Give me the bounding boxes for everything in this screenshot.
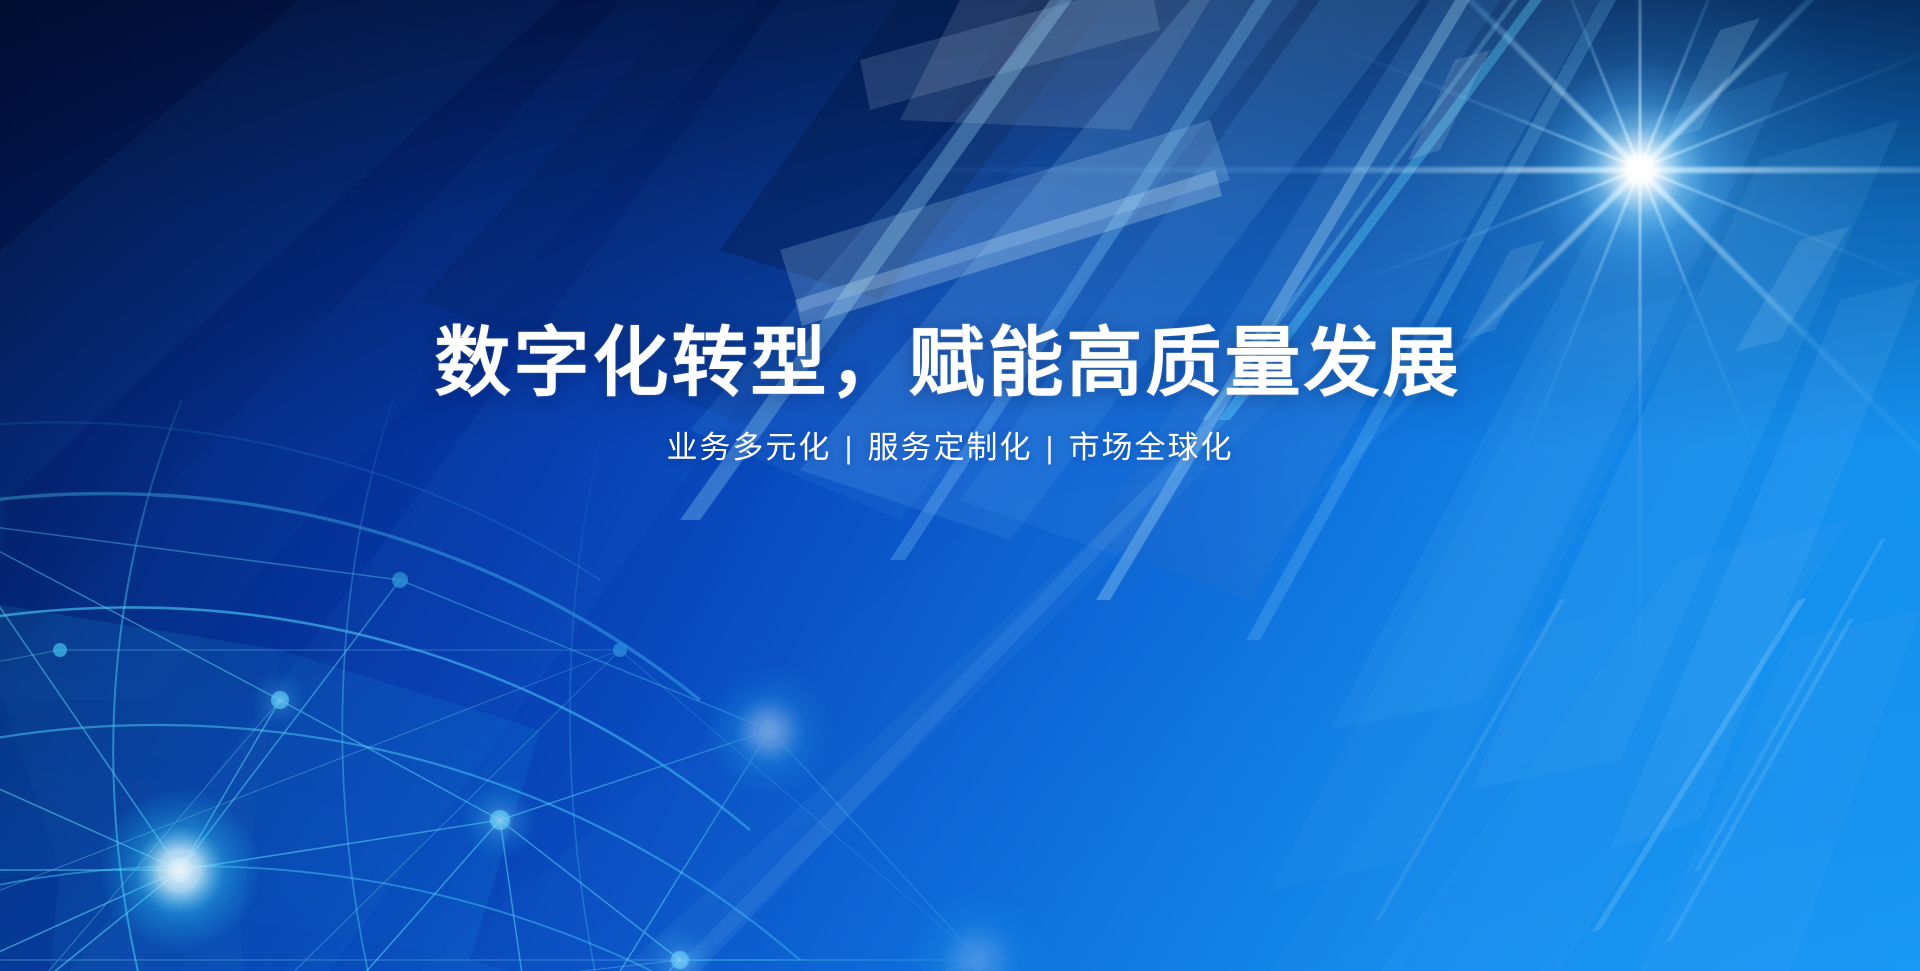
burst-ray <box>1639 0 1765 169</box>
light-burst-icon <box>1520 50 1760 290</box>
subtitle-segment-3: 市场全球化 <box>1069 432 1234 463</box>
angled-panels-layer <box>0 0 1920 971</box>
subtitle-segment-1: 业务多元化 <box>666 432 831 463</box>
page-subtitle: 业务多元化|服务定制化|市场全球化 <box>0 432 1920 463</box>
bottom-right-glow <box>0 0 1920 971</box>
hero-banner: 数字化转型，赋能高质量发展 业务多元化|服务定制化|市场全球化 <box>0 0 1920 971</box>
network-globe-mesh <box>0 400 1140 971</box>
subtitle-separator-1: | <box>831 432 867 463</box>
network-globe-svg <box>0 400 1140 971</box>
burst-ray <box>1639 43 1920 169</box>
burst-ray <box>1639 167 1920 293</box>
burst-ray <box>1640 167 1920 173</box>
burst-ray <box>1638 0 1920 172</box>
burst-ray <box>1333 167 1640 293</box>
burst-ray <box>1270 0 1642 172</box>
subtitle-separator-2: | <box>1033 432 1069 463</box>
subtitle-segment-2: 服务定制化 <box>868 432 1033 463</box>
burst-ray <box>1515 0 1641 169</box>
burst-core <box>1535 65 1745 275</box>
hero-text-block: 数字化转型，赋能高质量发展 业务多元化|服务定制化|市场全球化 <box>0 326 1920 463</box>
top-shade-overlay <box>0 0 1920 971</box>
burst-ray <box>1639 0 1642 169</box>
angled-panels-svg <box>0 0 1920 971</box>
burst-ray <box>1333 43 1640 169</box>
page-title: 数字化转型，赋能高质量发展 <box>0 326 1920 402</box>
burst-ray <box>880 167 1640 173</box>
